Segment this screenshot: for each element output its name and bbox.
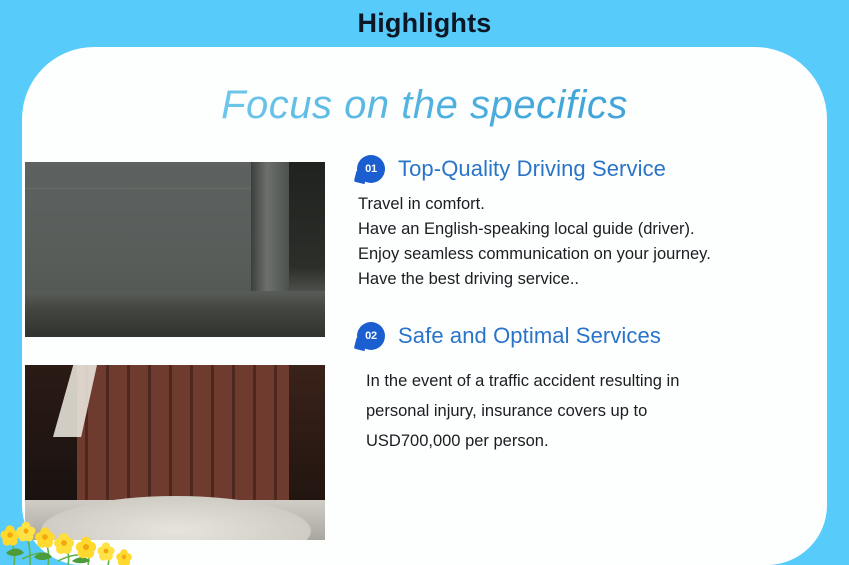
section-1-header: 01 Top-Quality Driving Service	[355, 155, 823, 183]
highlight-section-2: 02 Safe and Optimal Services In the even…	[355, 322, 823, 456]
section-1-line-1: Travel in comfort.	[358, 192, 823, 217]
text-column: 01 Top-Quality Driving Service Travel in…	[355, 155, 823, 456]
section-2-title: Safe and Optimal Services	[398, 323, 661, 349]
highlights-card: Focus on the specifics	[22, 47, 827, 565]
section-2-body: In the event of a traffic accident resul…	[355, 366, 823, 456]
photo-sedan	[25, 162, 325, 337]
section-2-line-1: In the event of a traffic accident resul…	[366, 366, 823, 396]
section-2-line-3: USD700,000 per person.	[366, 426, 823, 456]
section-1-number-badge: 01	[357, 155, 385, 183]
page-title: Highlights	[0, 8, 849, 39]
card-content: 01 Top-Quality Driving Service Travel in…	[22, 155, 827, 565]
photo-column	[25, 162, 325, 540]
rust-wall-background	[25, 365, 325, 540]
section-2-header: 02 Safe and Optimal Services	[355, 322, 823, 350]
section-1-line-3: Enjoy seamless communication on your jou…	[358, 242, 823, 267]
slide-root: { "header": { "title": "Highlights" }, "…	[0, 0, 849, 565]
section-2-line-2: personal injury, insurance covers up to	[366, 396, 823, 426]
section-1-line-2: Have an English-speaking local guide (dr…	[358, 217, 823, 242]
garage-background	[25, 162, 325, 337]
card-subtitle: Focus on the specifics	[22, 83, 827, 128]
garage-floor	[25, 291, 325, 337]
section-2-number-badge: 02	[357, 322, 385, 350]
section-1-line-4: Have the best driving service..	[358, 267, 823, 292]
photo-minivan	[25, 365, 325, 540]
section-1-title: Top-Quality Driving Service	[398, 156, 666, 182]
section-1-body: Travel in comfort. Have an English-speak…	[355, 192, 823, 292]
highlight-section-1: 01 Top-Quality Driving Service Travel in…	[355, 155, 823, 292]
